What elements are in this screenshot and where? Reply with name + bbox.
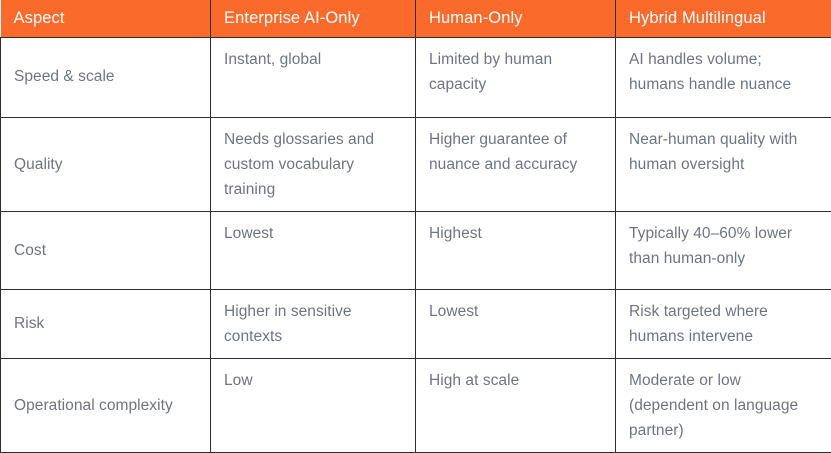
cell-aspect: Operational complexity <box>1 359 211 453</box>
table-row: Risk Higher in sensitive contexts Lowest… <box>1 289 831 358</box>
table-row: Cost Lowest Highest Typically 40–60% low… <box>1 211 831 289</box>
table-header-row: Aspect Enterprise AI-Only Human-Only Hyb… <box>1 0 831 37</box>
cell-human-only: High at scale <box>416 359 616 453</box>
cell-enterprise-ai-only: Lowest <box>211 211 416 289</box>
cell-text: Cost <box>14 238 198 263</box>
cell-text: Lowest <box>429 299 603 324</box>
cell-text: Low <box>224 368 403 393</box>
cell-text: Limited by human capacity <box>429 47 603 97</box>
cell-aspect: Quality <box>1 117 211 211</box>
cell-human-only: Highest <box>416 211 616 289</box>
table-row: Speed & scale Instant, global Limited by… <box>1 37 831 117</box>
cell-text: Higher guarantee of nuance and accuracy <box>429 127 603 177</box>
cell-enterprise-ai-only: Low <box>211 359 416 453</box>
cell-hybrid-multilingual: Typically 40–60% lower than human-only <box>616 211 831 289</box>
cell-text: Lowest <box>224 221 403 246</box>
cell-human-only: Limited by human capacity <box>416 37 616 117</box>
cell-text: Needs glossaries and custom vocabulary t… <box>224 127 403 202</box>
table-body: Speed & scale Instant, global Limited by… <box>1 37 831 453</box>
table-row: Quality Needs glossaries and custom voca… <box>1 117 831 211</box>
cell-text: Speed & scale <box>14 64 198 89</box>
cell-text: Moderate or low (dependent on language p… <box>629 368 819 443</box>
comparison-table: Aspect Enterprise AI-Only Human-Only Hyb… <box>0 0 831 453</box>
column-header-aspect: Aspect <box>1 0 211 37</box>
cell-text: Quality <box>14 152 198 177</box>
cell-text: Typically 40–60% lower than human-only <box>629 221 819 271</box>
cell-enterprise-ai-only: Needs glossaries and custom vocabulary t… <box>211 117 416 211</box>
column-header-human-only: Human-Only <box>416 0 616 37</box>
cell-text: High at scale <box>429 368 603 393</box>
cell-text: AI handles volume; humans handle nuance <box>629 47 819 97</box>
cell-hybrid-multilingual: Moderate or low (dependent on language p… <box>616 359 831 453</box>
cell-text: Higher in sensitive contexts <box>224 299 403 349</box>
cell-human-only: Higher guarantee of nuance and accuracy <box>416 117 616 211</box>
cell-text: Risk targeted where humans intervene <box>629 299 819 349</box>
column-header-hybrid-multilingual: Hybrid Multilingual <box>616 0 831 37</box>
cell-aspect: Risk <box>1 289 211 358</box>
cell-enterprise-ai-only: Higher in sensitive contexts <box>211 289 416 358</box>
cell-text: Instant, global <box>224 47 403 72</box>
table-row: Operational complexity Low High at scale… <box>1 359 831 453</box>
column-header-enterprise-ai-only: Enterprise AI-Only <box>211 0 416 37</box>
cell-aspect: Speed & scale <box>1 37 211 117</box>
cell-enterprise-ai-only: Instant, global <box>211 37 416 117</box>
cell-text: Operational complexity <box>14 393 198 418</box>
cell-human-only: Lowest <box>416 289 616 358</box>
cell-text: Near-human quality with human oversight <box>629 127 819 177</box>
table-header: Aspect Enterprise AI-Only Human-Only Hyb… <box>1 0 831 37</box>
cell-text: Risk <box>14 311 198 336</box>
cell-hybrid-multilingual: AI handles volume; humans handle nuance <box>616 37 831 117</box>
cell-aspect: Cost <box>1 211 211 289</box>
cell-text: Highest <box>429 221 603 246</box>
cell-hybrid-multilingual: Risk targeted where humans intervene <box>616 289 831 358</box>
cell-hybrid-multilingual: Near-human quality with human oversight <box>616 117 831 211</box>
